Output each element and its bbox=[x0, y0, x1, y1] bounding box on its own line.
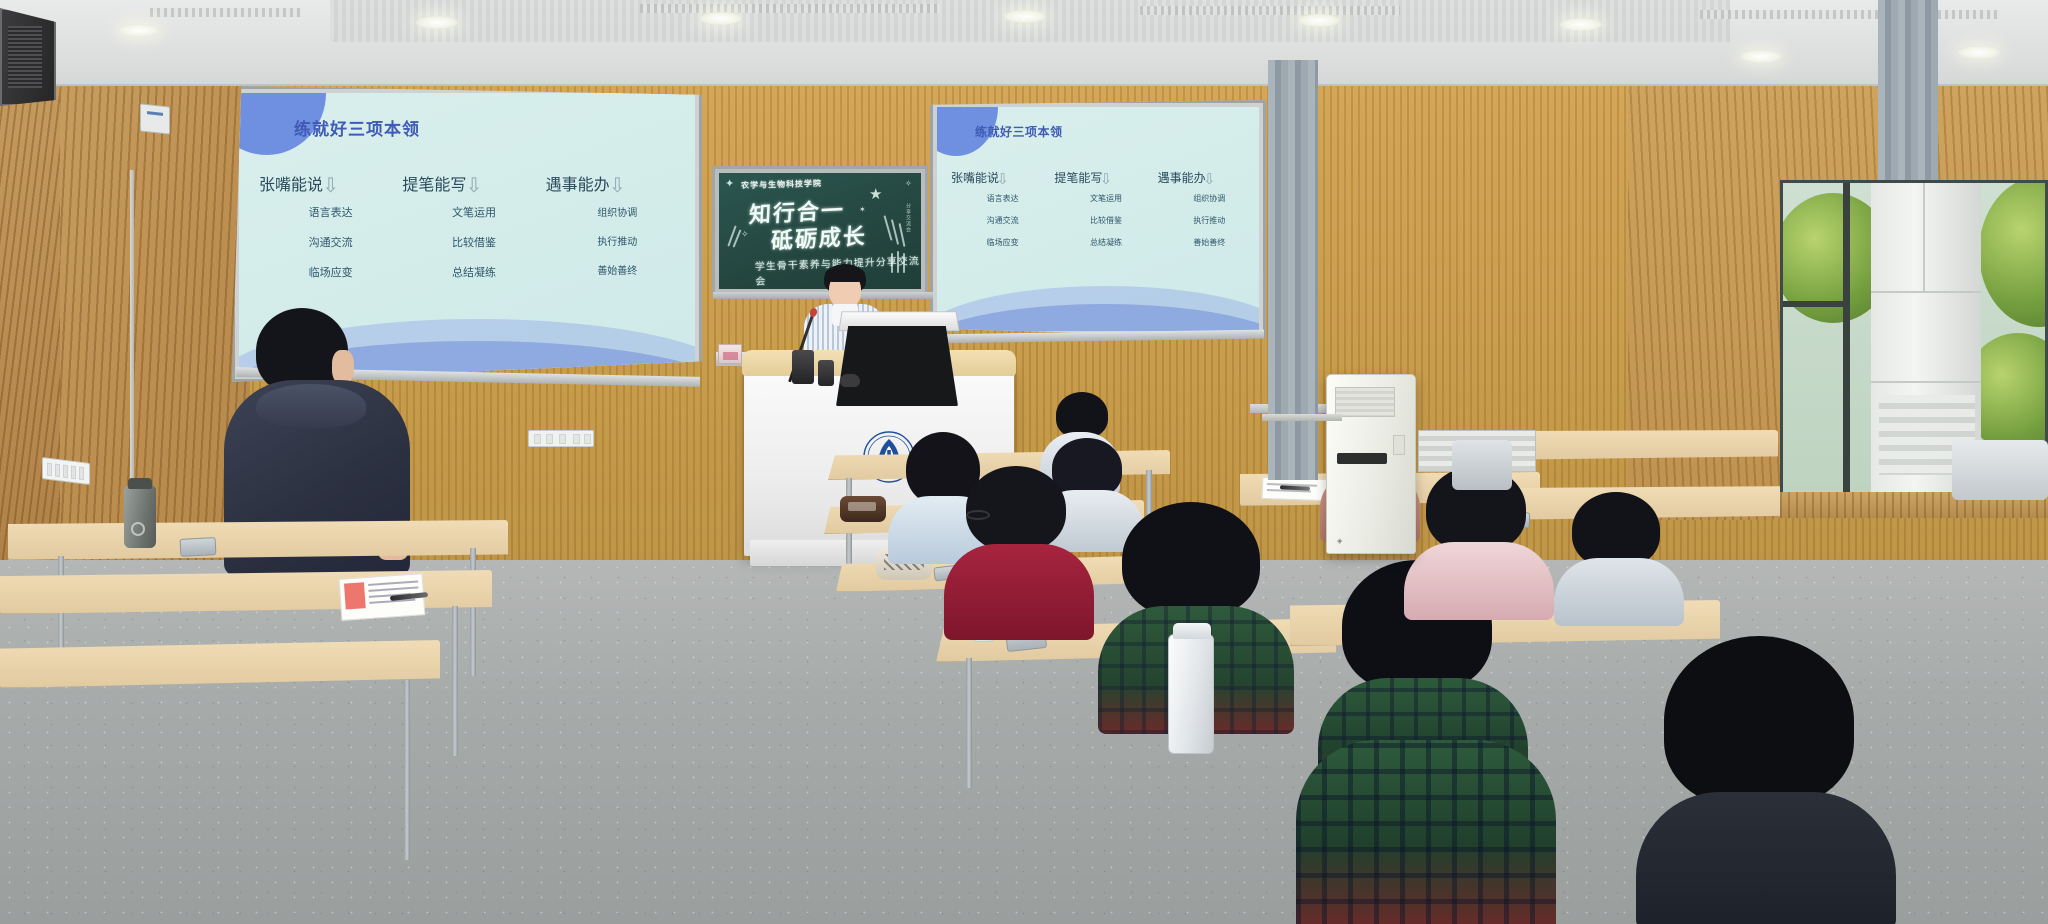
ceiling-vent bbox=[1140, 6, 1400, 15]
column-heading: 提笔能写 bbox=[1054, 169, 1102, 186]
star-icon: ✦ bbox=[725, 177, 734, 190]
column-item: 执行推动 bbox=[1158, 215, 1259, 226]
column-item: 善始善终 bbox=[1158, 237, 1259, 248]
ceiling-vent bbox=[1700, 10, 2000, 19]
ceiling bbox=[0, 0, 2048, 86]
slide-column: 张嘴能说 ⇩ 语言表达 沟通交流 临场应变 bbox=[259, 171, 402, 280]
wall-pipe bbox=[1262, 414, 1342, 421]
student-hair bbox=[1664, 636, 1854, 806]
ceiling-vent bbox=[640, 4, 940, 13]
student-seated-9 bbox=[1554, 492, 1684, 622]
column-item: 比较借鉴 bbox=[1054, 215, 1157, 226]
slide-title: 练就好三项本领 bbox=[294, 115, 420, 140]
ac-display bbox=[1337, 453, 1387, 464]
student-plaid-shirt bbox=[1296, 740, 1556, 924]
chair[interactable] bbox=[1952, 440, 2048, 500]
column-item: 沟通交流 bbox=[259, 234, 402, 250]
student-top bbox=[1554, 558, 1684, 626]
smartphone[interactable] bbox=[180, 537, 217, 557]
column-item: 语言表达 bbox=[951, 193, 1054, 204]
blackboard-headline-2: 砥砺成长 bbox=[770, 218, 868, 255]
ac-button[interactable] bbox=[1393, 435, 1405, 455]
desk-leg bbox=[404, 680, 410, 860]
column-item: 总结凝练 bbox=[402, 264, 545, 280]
desk-leg bbox=[452, 606, 458, 756]
student-hair bbox=[966, 466, 1066, 552]
slide-column: 提笔能写 ⇩ 文笔运用 比较借鉴 总结凝练 bbox=[402, 171, 545, 280]
ceiling-light bbox=[1298, 14, 1340, 27]
column-heading: 遇事能办 bbox=[546, 171, 610, 195]
desk-leg bbox=[966, 658, 972, 788]
blackboard-department: 农学与生物科技学院 bbox=[741, 178, 822, 191]
computer-mouse[interactable] bbox=[840, 374, 860, 387]
column-heading: 提笔能写 bbox=[402, 171, 466, 195]
microphone-base bbox=[792, 350, 814, 384]
slide-right: 练就好三项本领 张嘴能说 ⇩ 语言表达 沟通交流 临场应变 提笔能写 ⇩ 文笔运… bbox=[937, 107, 1259, 331]
thermos[interactable] bbox=[1168, 634, 1214, 754]
ac-vent bbox=[1335, 387, 1395, 417]
eyeglasses bbox=[966, 510, 990, 520]
slide-column: 提笔能写 ⇩ 文笔运用 比较借鉴 总结凝练 bbox=[1054, 169, 1157, 248]
slide-title: 练就好三项本领 bbox=[975, 123, 1063, 140]
ceiling-light bbox=[1560, 18, 1602, 31]
column-item: 文笔运用 bbox=[1054, 193, 1157, 204]
desk-leg bbox=[470, 548, 476, 676]
chalk-stroke bbox=[897, 251, 899, 273]
student-seated-4 bbox=[944, 466, 1094, 636]
ceiling-light bbox=[1004, 10, 1046, 23]
floor-air-conditioner[interactable]: ◈ bbox=[1326, 374, 1416, 554]
ceiling-light bbox=[700, 12, 742, 25]
tissue-box[interactable] bbox=[718, 344, 742, 364]
desk-left-row1[interactable] bbox=[8, 520, 508, 560]
water-bottle[interactable] bbox=[124, 486, 156, 548]
column-item: 语言表达 bbox=[259, 204, 402, 220]
star-icon: ✧ bbox=[741, 229, 749, 240]
student-seated-10 bbox=[1636, 636, 1896, 924]
column-item: 比较借鉴 bbox=[402, 234, 545, 250]
column-heading: 遇事能办 bbox=[1158, 169, 1206, 186]
column-item: 执行推动 bbox=[546, 233, 689, 248]
ceiling-light bbox=[118, 24, 160, 37]
classroom-scene: 练就好三项本领 张嘴能说 ⇩ 语言表达 沟通交流 临场应变 提笔能写 ⇩ 文笔运… bbox=[0, 0, 2048, 924]
window-mullion bbox=[1843, 183, 1850, 500]
chair[interactable] bbox=[1452, 440, 1512, 490]
star-icon: ★ bbox=[869, 185, 882, 203]
ceiling-vent bbox=[150, 8, 300, 17]
column-item: 组织协调 bbox=[1158, 193, 1259, 204]
wall-speaker bbox=[0, 8, 56, 106]
microphone-base bbox=[818, 360, 834, 386]
student-hair bbox=[1572, 492, 1660, 568]
ceiling-light bbox=[416, 16, 458, 29]
wall-sign bbox=[140, 103, 170, 134]
ceiling-light bbox=[1740, 50, 1782, 63]
ac-brand-mark: ◈ bbox=[1337, 537, 1342, 545]
presenter-fringe bbox=[825, 266, 865, 282]
ceiling-light bbox=[1958, 46, 2000, 59]
chalk-stroke bbox=[903, 253, 905, 273]
lectern-control-monitor[interactable] bbox=[836, 326, 958, 406]
chalk-stroke bbox=[891, 253, 893, 273]
window-mullion bbox=[1783, 301, 1845, 307]
column-item: 善始善终 bbox=[546, 262, 689, 277]
pencil-case[interactable] bbox=[840, 496, 886, 522]
slide-column: 张嘴能说 ⇩ 语言表达 沟通交流 临场应变 bbox=[951, 169, 1054, 248]
slide-column: 遇事能办 ⇩ 组织协调 执行推动 善始善终 bbox=[546, 171, 689, 280]
column-item: 总结凝练 bbox=[1054, 237, 1157, 248]
column-item: 临场应变 bbox=[259, 264, 402, 280]
column-item: 沟通交流 bbox=[951, 215, 1054, 226]
hoodie-hood bbox=[256, 384, 366, 428]
star-icon: ✶ bbox=[859, 205, 866, 214]
tree bbox=[1979, 180, 2048, 327]
standing-student-ear bbox=[332, 350, 354, 384]
slide-column: 遇事能办 ⇩ 组织协调 执行推动 善始善终 bbox=[1158, 169, 1259, 248]
right-projection-screen[interactable]: 练就好三项本领 张嘴能说 ⇩ 语言表达 沟通交流 临场应变 提笔能写 ⇩ 文笔运… bbox=[930, 100, 1266, 338]
blackboard-side-note: 分享交流会 bbox=[905, 203, 912, 233]
column-item: 临场应变 bbox=[951, 237, 1054, 248]
column-heading: 张嘴能说 bbox=[259, 171, 323, 195]
column-item: 文笔运用 bbox=[402, 204, 545, 220]
student-hair bbox=[1122, 502, 1260, 618]
star-icon: ✧ bbox=[905, 179, 912, 188]
student-top bbox=[1404, 542, 1554, 620]
column-heading: 张嘴能说 bbox=[951, 169, 999, 186]
student-top bbox=[944, 544, 1094, 640]
light-switch-panel[interactable] bbox=[528, 430, 594, 447]
column-item: 组织协调 bbox=[546, 204, 689, 219]
wall-seam bbox=[130, 170, 134, 530]
student-seated-11 bbox=[1296, 740, 1556, 924]
student-top bbox=[1636, 792, 1896, 924]
